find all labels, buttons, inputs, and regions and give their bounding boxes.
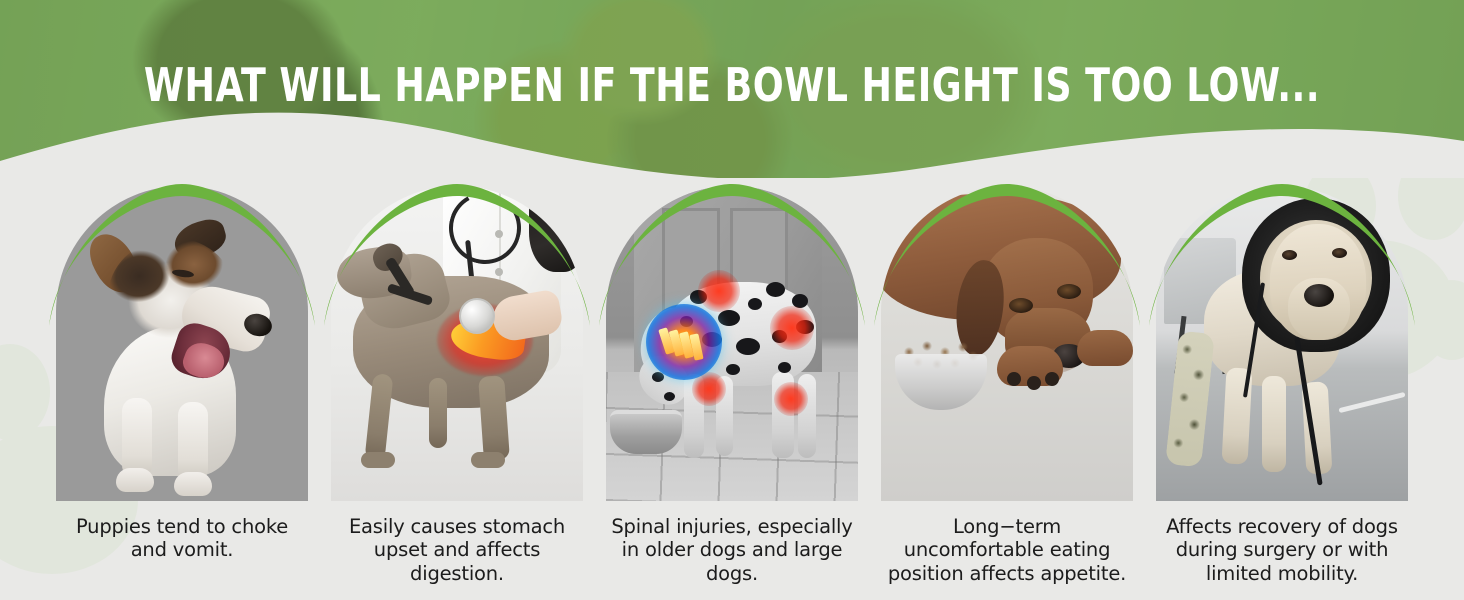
dalmatian-spot — [664, 392, 675, 401]
card-item: Long−term uncomfortable eating position … — [881, 186, 1133, 585]
dog-toe — [1027, 376, 1041, 390]
cards-row: Puppies tend to choke and vomit. — [0, 186, 1464, 600]
dog-eye — [1057, 284, 1081, 299]
dog-leg — [429, 378, 447, 448]
bandaged-leg-cast — [1165, 330, 1215, 467]
photo-illustration — [606, 186, 858, 501]
card-photo — [56, 186, 308, 501]
vet-hair — [529, 186, 583, 272]
dalmatian-spot — [718, 310, 740, 326]
photo-illustration — [1156, 186, 1408, 501]
card-caption: Spinal injuries, especially in older dog… — [606, 515, 858, 585]
card-item: Affects recovery of dogs during surgery … — [1156, 186, 1408, 585]
dog-paw — [471, 452, 505, 468]
stethoscope-chestpiece — [459, 298, 495, 334]
card-photo-wrapper — [56, 186, 308, 501]
dog-eye — [1009, 298, 1033, 313]
photo-illustration — [56, 186, 308, 501]
card-caption: Long−term uncomfortable eating position … — [881, 515, 1133, 585]
card-photo-wrapper — [881, 186, 1133, 501]
dog-paw — [116, 468, 154, 492]
dog-nose — [1304, 284, 1334, 307]
infographic-root: WHAT WILL HAPPEN IF THE BOWL HEIGHT IS T… — [0, 0, 1464, 600]
card-item: Puppies tend to choke and vomit. — [56, 186, 308, 562]
floor-highlight — [1338, 392, 1405, 413]
pain-point-marker — [770, 306, 814, 350]
dog-paw — [1077, 330, 1133, 366]
dog-toe — [1007, 372, 1021, 386]
card-item: Easily causes stomach upset and affects … — [331, 186, 583, 585]
dog-leg — [365, 373, 394, 461]
photo-illustration — [331, 186, 583, 501]
card-photo-wrapper — [331, 186, 583, 501]
photo-illustration — [881, 186, 1133, 501]
card-photo — [881, 186, 1133, 501]
coat-button — [495, 268, 503, 276]
dog-paw — [361, 452, 395, 468]
card-photo-wrapper — [1156, 186, 1408, 501]
glass-food-bowl — [895, 354, 987, 410]
card-caption: Affects recovery of dogs during surgery … — [1156, 515, 1408, 585]
dog-paw — [174, 472, 212, 496]
dog-eye — [1332, 248, 1347, 258]
dalmatian-spot — [736, 338, 760, 355]
card-photo-wrapper — [606, 186, 858, 501]
dalmatian-spot — [748, 298, 762, 310]
card-photo — [1156, 186, 1408, 501]
card-caption: Puppies tend to choke and vomit. — [56, 515, 308, 562]
food-bowl — [610, 410, 682, 454]
header-banner: WHAT WILL HAPPEN IF THE BOWL HEIGHT IS T… — [0, 0, 1464, 178]
dog-eye — [1282, 250, 1297, 260]
card-photo — [331, 186, 583, 501]
pain-point-marker — [698, 270, 740, 312]
dalmatian-spot — [766, 282, 785, 297]
dog-leg — [1262, 376, 1286, 472]
card-photo — [606, 186, 858, 501]
dog-toe — [1045, 372, 1059, 386]
card-caption: Easily causes stomach upset and affects … — [331, 515, 583, 585]
dalmatian-spot — [726, 364, 740, 375]
card-item: Spinal injuries, especially in older dog… — [606, 186, 858, 585]
pain-point-marker — [774, 382, 808, 416]
page-title: WHAT WILL HAPPEN IF THE BOWL HEIGHT IS T… — [88, 62, 1376, 108]
dalmatian-spot — [778, 362, 791, 373]
